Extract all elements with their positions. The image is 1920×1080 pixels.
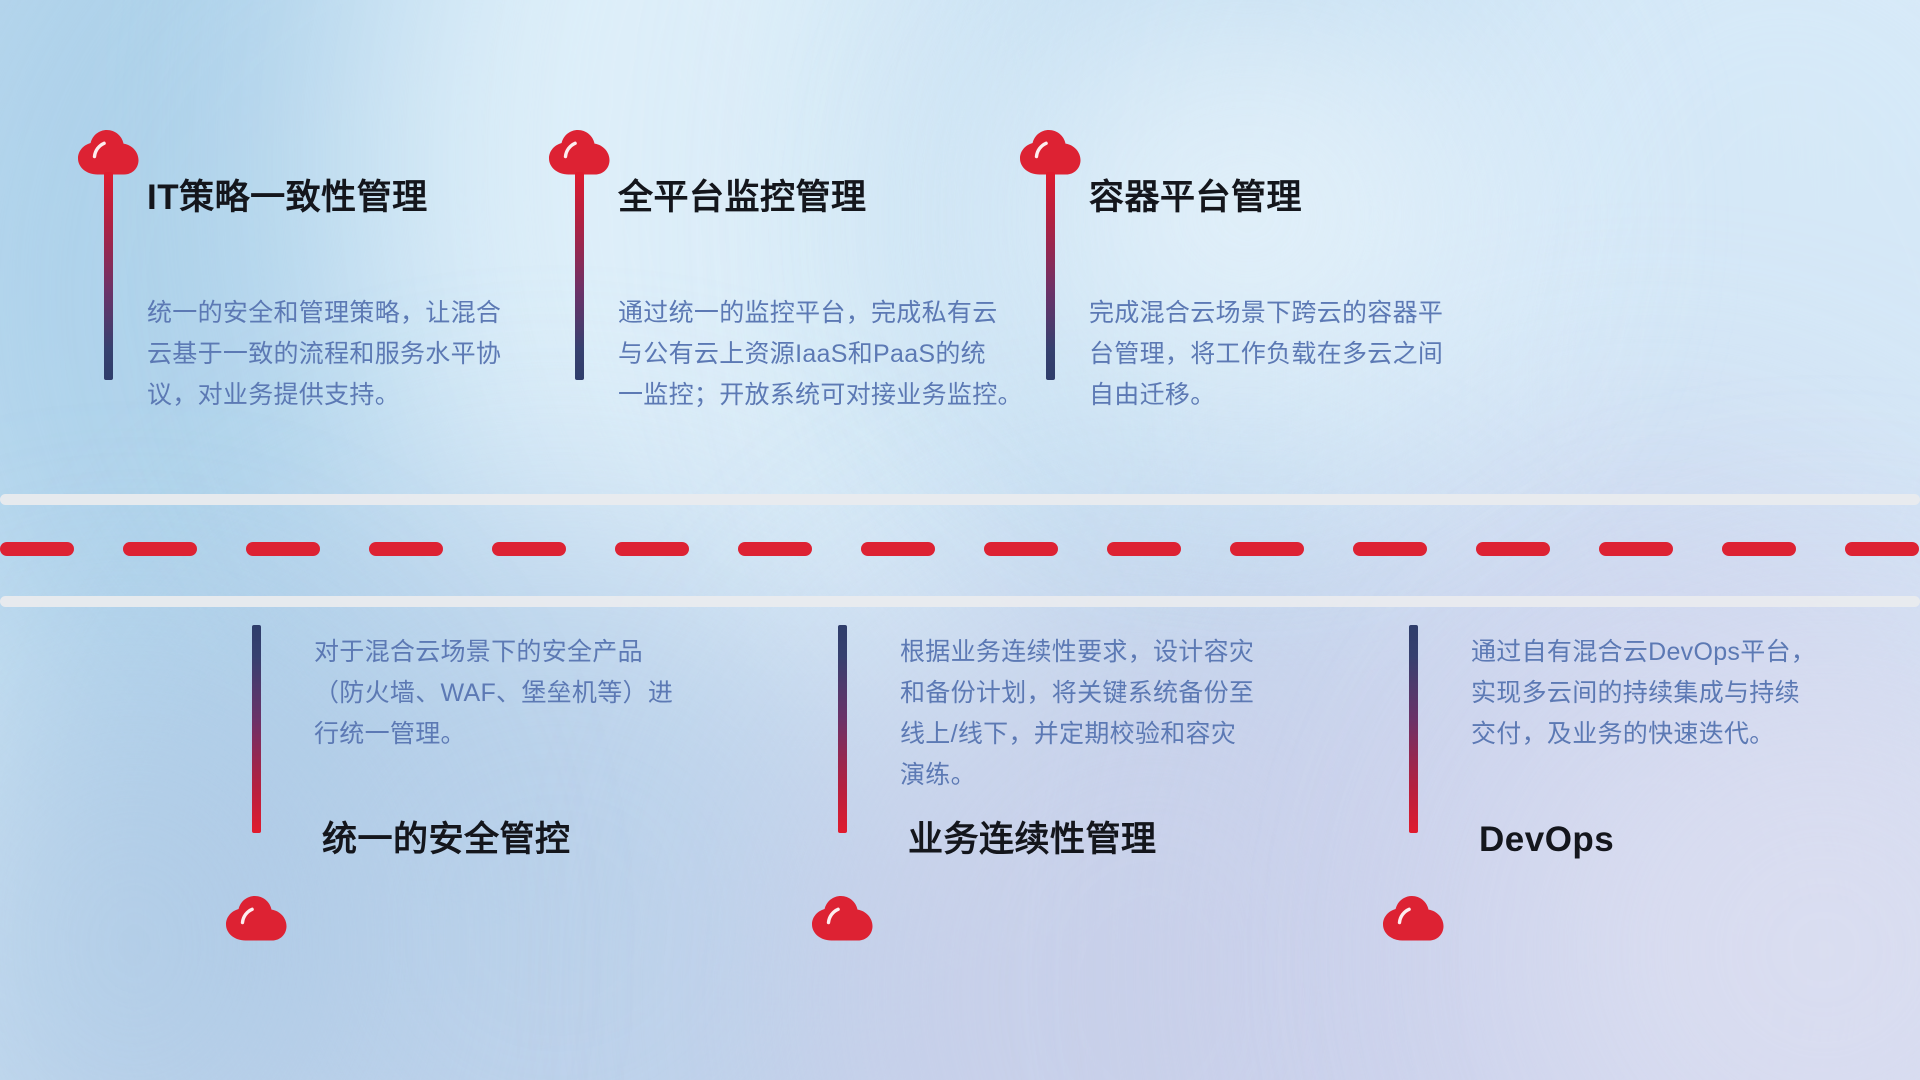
- card-stem: [104, 172, 113, 380]
- card-body-line: 根据业务连续性要求，设计容灾: [900, 632, 1330, 673]
- divider-rail-bottom: [0, 596, 1920, 607]
- card-body-line: 和备份计划，将关键系统备份至: [900, 673, 1330, 714]
- card-body: 通过统一的监控平台，完成私有云 与公有云上资源IaaS和PaaS的统 一监控；开…: [618, 293, 1048, 416]
- card-body-line: 完成混合云场景下跨云的容器平: [1089, 293, 1519, 334]
- divider-dash: [615, 542, 689, 556]
- card-body-line: 议，对业务提供支持。: [147, 375, 577, 416]
- card-body: 通过自有混合云DevOps平台， 实现多云间的持续集成与持续 交付，及业务的快速…: [1471, 632, 1901, 755]
- card-body-line: 云基于一致的流程和服务水平协: [147, 334, 577, 375]
- card-stem: [1409, 625, 1418, 833]
- divider-dash: [861, 542, 935, 556]
- divider-dash: [984, 542, 1058, 556]
- divider-dash: [1230, 542, 1304, 556]
- divider-dash: [246, 542, 320, 556]
- cloud-icon: [77, 129, 141, 175]
- card-body: 根据业务连续性要求，设计容灾 和备份计划，将关键系统备份至 线上/线下，并定期校…: [900, 632, 1330, 796]
- card-stem: [252, 625, 261, 833]
- card-title: 容器平台管理: [1089, 180, 1302, 215]
- card-body-line: 自由迁移。: [1089, 375, 1519, 416]
- cloud-icon: [225, 895, 289, 941]
- cloud-icon: [1019, 129, 1083, 175]
- card-title: 业务连续性管理: [908, 822, 1157, 857]
- card-title: 全平台监控管理: [618, 180, 867, 215]
- card-stem: [838, 625, 847, 833]
- cloud-icon: [811, 895, 875, 941]
- card-body-line: 交付，及业务的快速迭代。: [1471, 714, 1901, 755]
- card-body: 对于混合云场景下的安全产品 （防火墙、WAF、堡垒机等）进 行统一管理。: [314, 632, 744, 755]
- divider-dash: [1476, 542, 1550, 556]
- card-body-line: 通过自有混合云DevOps平台，: [1471, 632, 1901, 673]
- cloud-icon: [1382, 895, 1446, 941]
- divider-dash: [492, 542, 566, 556]
- divider-dash-track: [0, 542, 1920, 556]
- divider-dash: [123, 542, 197, 556]
- divider-rail-top: [0, 494, 1920, 505]
- card-body-line: （防火墙、WAF、堡垒机等）进: [314, 673, 744, 714]
- card-body-line: 通过统一的监控平台，完成私有云: [618, 293, 1048, 334]
- card-body-line: 统一的安全和管理策略，让混合: [147, 293, 577, 334]
- cloud-icon: [548, 129, 612, 175]
- card-body: 完成混合云场景下跨云的容器平 台管理，将工作负载在多云之间 自由迁移。: [1089, 293, 1519, 416]
- card-body-line: 行统一管理。: [314, 714, 744, 755]
- card-body-line: 台管理，将工作负载在多云之间: [1089, 334, 1519, 375]
- card-body: 统一的安全和管理策略，让混合 云基于一致的流程和服务水平协 议，对业务提供支持。: [147, 293, 577, 416]
- divider-dash: [1722, 542, 1796, 556]
- divider-dash: [738, 542, 812, 556]
- divider-dash: [1845, 542, 1919, 556]
- card-body-line: 演练。: [900, 755, 1330, 796]
- card-title: IT策略一致性管理: [147, 180, 428, 215]
- card-body-line: 与公有云上资源IaaS和PaaS的统: [618, 334, 1048, 375]
- card-body-line: 一监控；开放系统可对接业务监控。: [618, 375, 1048, 416]
- divider-dash: [1107, 542, 1181, 556]
- card-stem: [575, 172, 584, 380]
- divider-dash: [1599, 542, 1673, 556]
- card-body-line: 对于混合云场景下的安全产品: [314, 632, 744, 673]
- card-title: 统一的安全管控: [322, 822, 571, 857]
- card-body-line: 实现多云间的持续集成与持续: [1471, 673, 1901, 714]
- card-body-line: 线上/线下，并定期校验和容灾: [900, 714, 1330, 755]
- divider-dash: [1353, 542, 1427, 556]
- divider-dash: [0, 542, 74, 556]
- divider-dash: [369, 542, 443, 556]
- card-title: DevOps: [1479, 822, 1614, 857]
- card-stem: [1046, 172, 1055, 380]
